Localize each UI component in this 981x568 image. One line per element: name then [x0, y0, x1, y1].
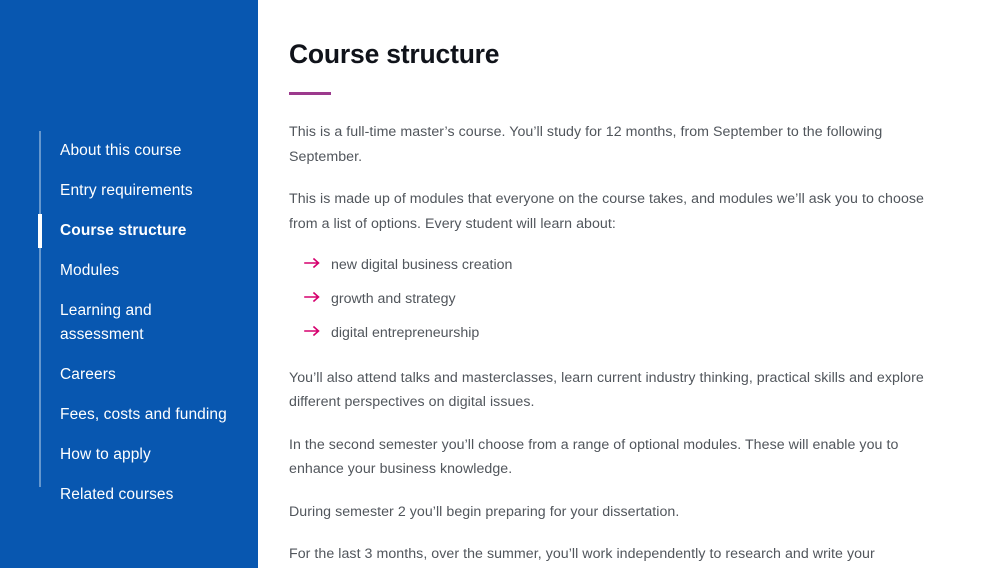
paragraph-intro: This is a full-time master’s course. You…	[289, 120, 947, 169]
paragraph-dissertation-prep: During semester 2 you’ll begin preparing…	[289, 500, 947, 524]
sidebar-item-course-structure[interactable]: Course structure	[0, 211, 258, 251]
list-item-label: growth and strategy	[331, 291, 456, 307]
sidebar-item-how-to-apply[interactable]: How to apply	[0, 435, 258, 475]
sidebar-item-about-this-course[interactable]: About this course	[0, 131, 258, 171]
course-page: About this course Entry requirements Cou…	[0, 0, 981, 568]
sidebar-item-label[interactable]: Learning and assessment	[60, 291, 190, 355]
paragraph-final-months: For the last 3 months, over the summer, …	[289, 542, 947, 568]
learning-topics-list: new digital business creation growth and…	[289, 254, 947, 344]
page-title: Course structure	[289, 38, 947, 70]
sidebar-item-careers[interactable]: Careers	[0, 355, 258, 395]
arrow-right-icon	[304, 255, 322, 271]
sidebar-item-modules[interactable]: Modules	[0, 251, 258, 291]
list-item-label: digital entrepreneurship	[331, 325, 479, 341]
arrow-right-icon	[304, 323, 322, 339]
sidebar-item-label[interactable]: Related courses	[60, 475, 174, 515]
section-main-content: Course structure This is a full-time mas…	[258, 0, 981, 568]
paragraph-modules-intro: This is made up of modules that everyone…	[289, 187, 947, 236]
list-item-label: new digital business creation	[331, 257, 512, 273]
title-accent-rule	[289, 92, 331, 95]
list-item: new digital business creation	[289, 254, 947, 276]
paragraph-second-semester: In the second semester you’ll choose fro…	[289, 433, 947, 482]
list-item: digital entrepreneurship	[289, 322, 947, 344]
sidebar-item-label[interactable]: Fees, costs and funding	[60, 395, 227, 435]
sidebar-item-label[interactable]: Modules	[60, 251, 119, 291]
list-item: growth and strategy	[289, 288, 947, 310]
arrow-right-icon	[304, 289, 322, 305]
sidebar-item-label[interactable]: Entry requirements	[60, 171, 193, 211]
sidebar-item-label[interactable]: Course structure	[60, 211, 187, 251]
sidebar-item-fees-costs-and-funding[interactable]: Fees, costs and funding	[0, 395, 258, 435]
section-sidebar-nav: About this course Entry requirements Cou…	[0, 0, 258, 568]
sidebar-item-learning-and-assessment[interactable]: Learning and assessment	[0, 291, 258, 355]
sidebar-nav-list: About this course Entry requirements Cou…	[0, 131, 258, 515]
active-item-indicator	[38, 214, 42, 248]
sidebar-item-label[interactable]: Careers	[60, 355, 116, 395]
content-body: This is a full-time master’s course. You…	[289, 120, 947, 568]
sidebar-item-label[interactable]: How to apply	[60, 435, 151, 475]
paragraph-talks-masterclasses: You’ll also attend talks and masterclass…	[289, 366, 947, 415]
sidebar-item-label[interactable]: About this course	[60, 131, 181, 171]
sidebar-item-entry-requirements[interactable]: Entry requirements	[0, 171, 258, 211]
sidebar-item-related-courses[interactable]: Related courses	[0, 475, 258, 515]
